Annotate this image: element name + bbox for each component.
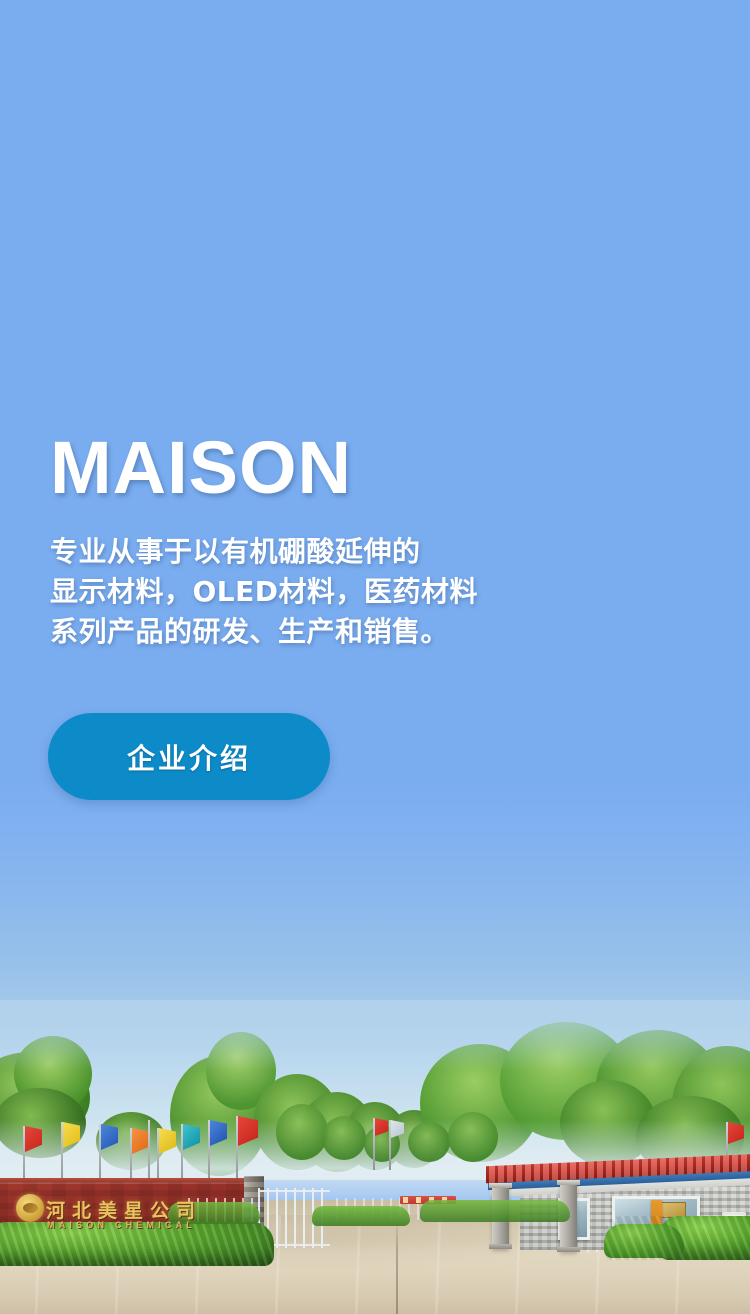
company-sign-chinese: 河北美星公司 xyxy=(46,1196,202,1223)
hero-content: MAISON 专业从事于以有机硼酸延伸的 显示材料，OLED材料，医药材料 系列… xyxy=(0,0,750,1000)
hedge-avenue-right xyxy=(420,1200,570,1222)
hero-subtitle-line-1: 专业从事于以有机硼酸延伸的 xyxy=(50,532,670,572)
hero-banner: 河北美星公司 MAISON CHEMICAL xyxy=(0,0,750,1314)
hero-subtitle: 专业从事于以有机硼酸延伸的 显示材料，OLED材料，医药材料 系列产品的研发、生… xyxy=(50,532,670,652)
company-logo-icon xyxy=(16,1194,44,1222)
hero-subtitle-line-2: 显示材料，OLED材料，医药材料 xyxy=(50,572,670,612)
photo-top-fade xyxy=(0,1000,750,1070)
road-seam xyxy=(396,1216,398,1314)
hero-subtitle-line-3: 系列产品的研发、生产和销售。 xyxy=(50,612,670,652)
company-intro-button[interactable]: 企业介绍 xyxy=(48,713,330,800)
brand-title: MAISON xyxy=(50,428,352,508)
company-sign-english: MAISON CHEMICAL xyxy=(47,1220,196,1230)
hedge-mid xyxy=(312,1206,410,1226)
factory-entrance-photo: 河北美星公司 MAISON CHEMICAL xyxy=(0,1000,750,1314)
hedge-right-texture xyxy=(604,1216,750,1260)
